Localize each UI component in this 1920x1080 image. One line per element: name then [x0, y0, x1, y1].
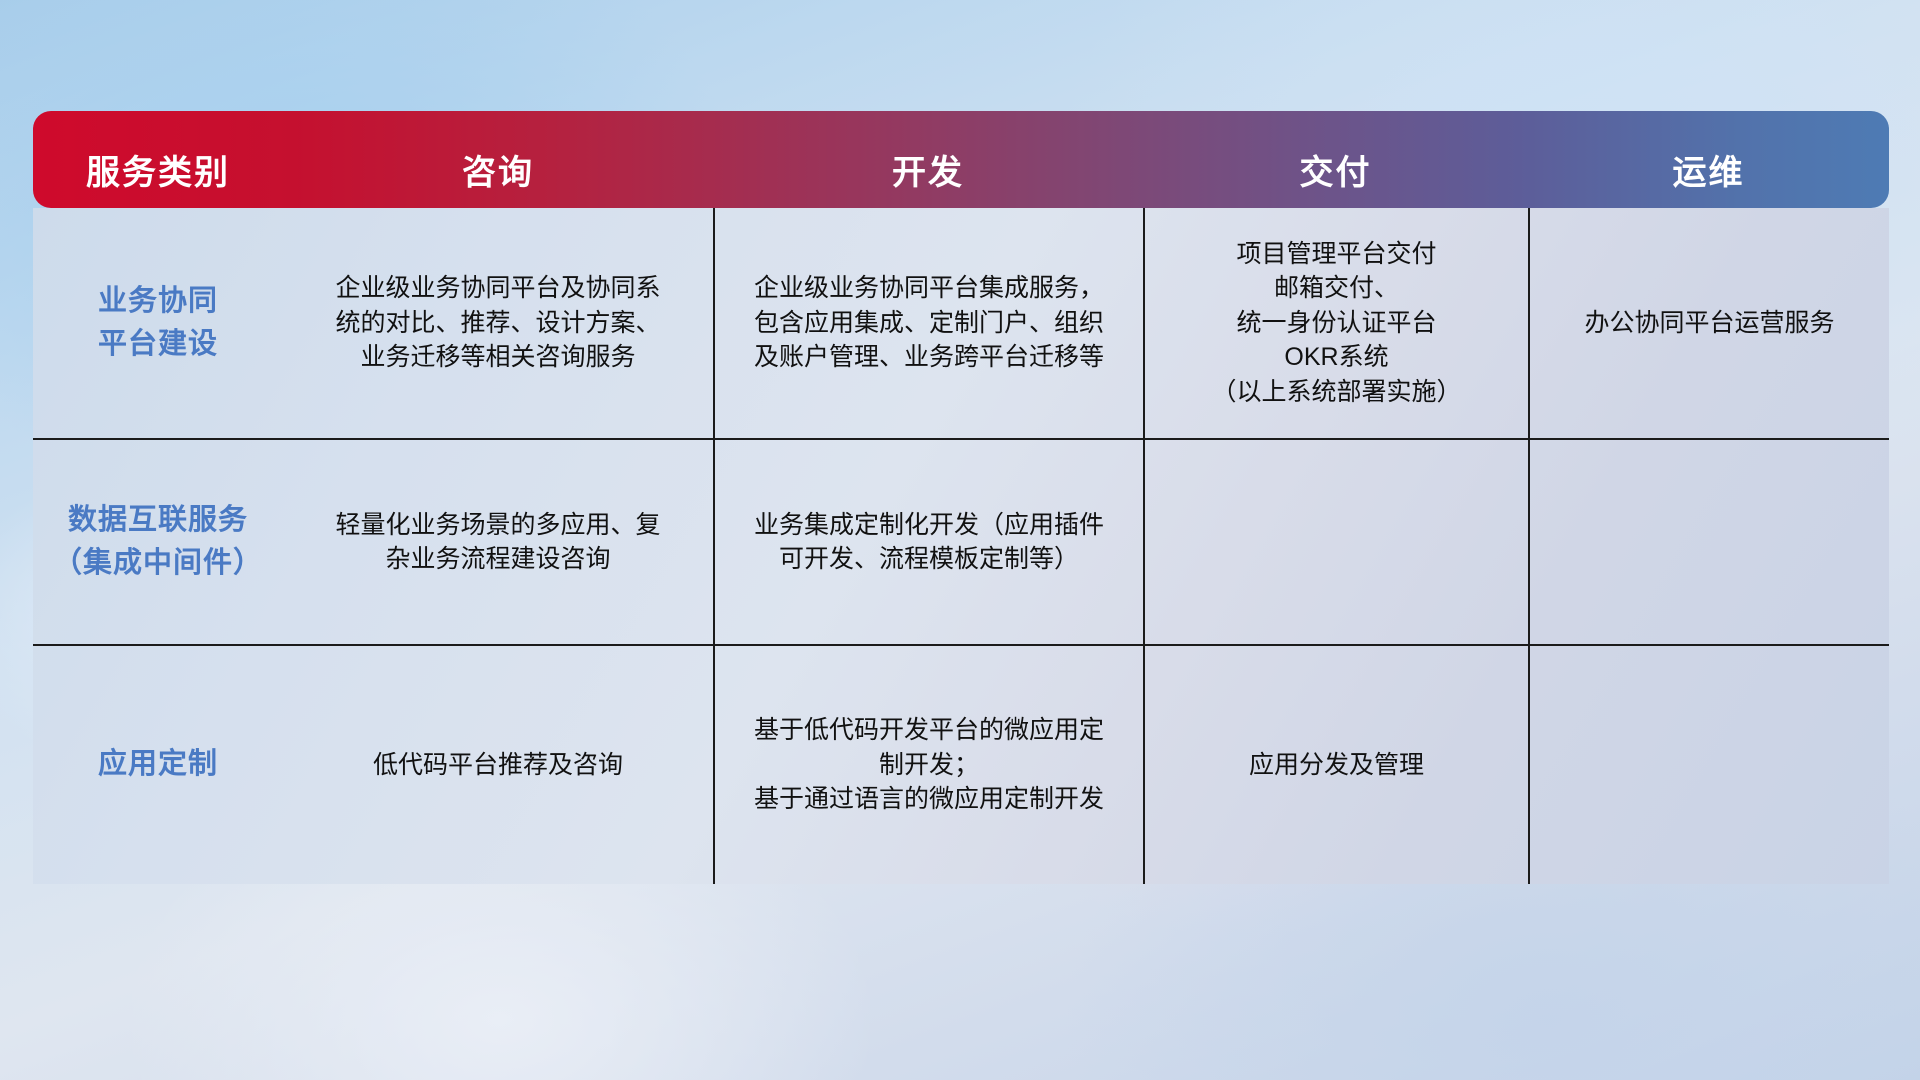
cell-operations — [1528, 440, 1889, 644]
cell-operations: 办公协同平台运营服务 — [1528, 208, 1889, 438]
column-header-operations: 运维 — [1528, 111, 1889, 208]
cell-delivery: 应用分发及管理 — [1143, 646, 1528, 884]
cell-consulting: 低代码平台推荐及咨询 — [283, 646, 713, 884]
table-header-row: 服务类别 咨询 开发 交付 运维 — [33, 111, 1889, 208]
cell-consulting: 轻量化业务场景的多应用、复 杂业务流程建设咨询 — [283, 440, 713, 644]
cell-development: 业务集成定制化开发（应用插件 可开发、流程模板定制等） — [713, 440, 1143, 644]
cell-development: 基于低代码开发平台的微应用定 制开发； 基于通过语言的微应用定制开发 — [713, 646, 1143, 884]
table-row: 业务协同 平台建设 企业级业务协同平台及协同系 统的对比、推荐、设计方案、 业务… — [33, 208, 1889, 438]
column-header-development: 开发 — [713, 111, 1143, 208]
cell-development: 企业级业务协同平台集成服务， 包含应用集成、定制门户、组织 及账户管理、业务跨平… — [713, 208, 1143, 438]
cell-delivery — [1143, 440, 1528, 644]
table-row: 应用定制 低代码平台推荐及咨询 基于低代码开发平台的微应用定 制开发； 基于通过… — [33, 644, 1889, 884]
column-header-delivery: 交付 — [1143, 111, 1528, 208]
cell-operations — [1528, 646, 1889, 884]
table-row: 数据互联服务 （集成中间件） 轻量化业务场景的多应用、复 杂业务流程建设咨询 业… — [33, 438, 1889, 644]
row-category-label: 业务协同 平台建设 — [33, 208, 283, 438]
cell-consulting: 企业级业务协同平台及协同系 统的对比、推荐、设计方案、 业务迁移等相关咨询服务 — [283, 208, 713, 438]
row-category-label: 数据互联服务 （集成中间件） — [33, 440, 283, 644]
table-body: 业务协同 平台建设 企业级业务协同平台及协同系 统的对比、推荐、设计方案、 业务… — [33, 208, 1889, 884]
slide-canvas: 服务类别 咨询 开发 交付 运维 业务协同 平台建设 企业级业务协同平台及协同系… — [0, 0, 1920, 1080]
service-matrix-table: 服务类别 咨询 开发 交付 运维 业务协同 平台建设 企业级业务协同平台及协同系… — [33, 111, 1889, 884]
column-header-consulting: 咨询 — [283, 111, 713, 208]
column-header-category: 服务类别 — [33, 111, 283, 208]
cell-delivery: 项目管理平台交付 邮箱交付、 统一身份认证平台 OKR系统 （以上系统部署实施） — [1143, 208, 1528, 438]
row-category-label: 应用定制 — [33, 646, 283, 884]
